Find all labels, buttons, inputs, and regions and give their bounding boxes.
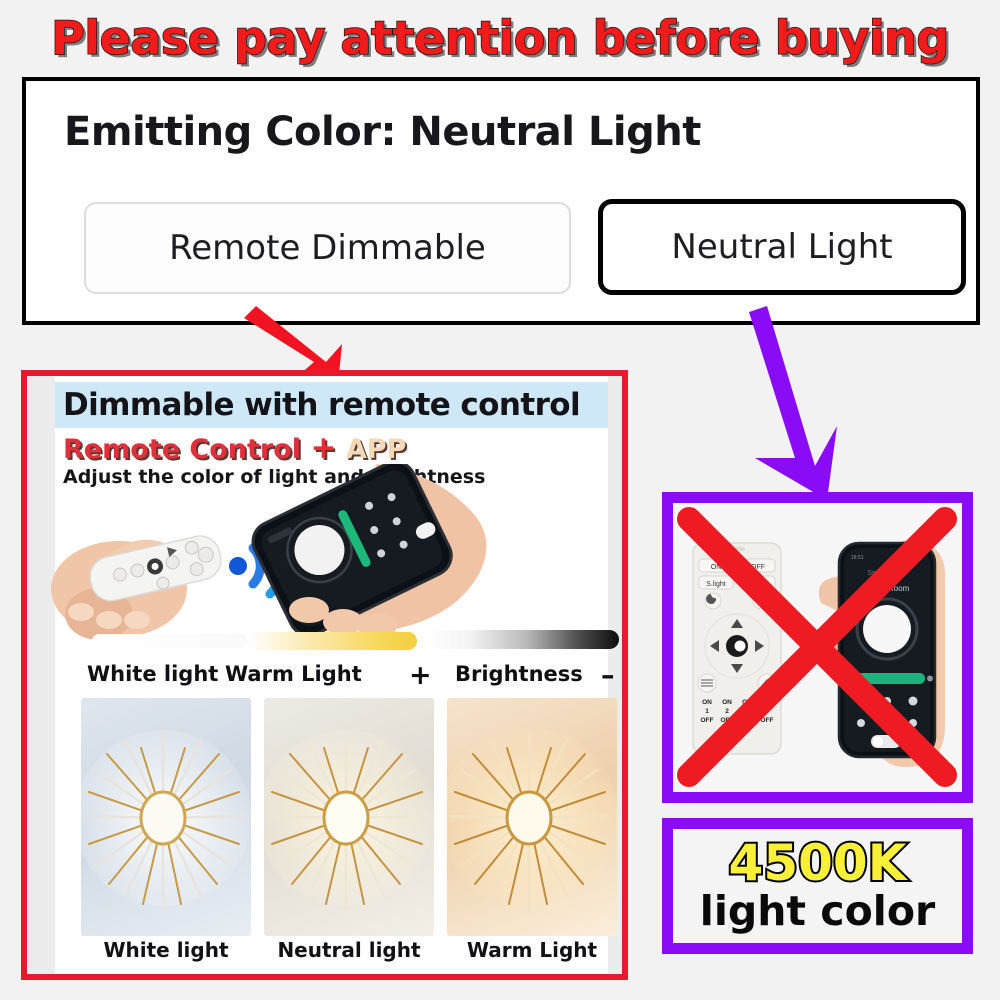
lamp-photo-neutral (264, 698, 434, 936)
lamp-photo-white (81, 698, 251, 936)
option-neutral-light[interactable]: Neutral Light (598, 199, 966, 295)
kelvin-light-color-box: 4500K light color (662, 818, 973, 954)
dimmable-header-text: Dimmable with remote control (55, 387, 580, 423)
app-word: APP (346, 434, 406, 465)
dimmable-remote-panel: Dimmable with remote control Remote Cont… (21, 370, 628, 980)
not-included-background: ON OFF S.light TIMER (673, 503, 962, 792)
lamp-caption-white: White light (81, 938, 251, 962)
panel-background: Dimmable with remote control Remote Cont… (27, 376, 622, 974)
white-light-bar (92, 634, 247, 648)
warm-light-bar (249, 632, 417, 650)
lamp-comparison-row: White light Neutral light Warm Light (55, 698, 608, 970)
option-remote-dimmable-label: Remote Dimmable (169, 228, 486, 268)
dimmable-header-banner: Dimmable with remote control (55, 382, 608, 428)
option-neutral-light-label: Neutral Light (671, 227, 892, 267)
kelvin-value: 4500K (729, 838, 907, 888)
panel-left-gutter (27, 376, 55, 974)
brightness-minus-icon: – (601, 660, 615, 691)
hand-holding-remote-photo (47, 494, 247, 644)
hand-holding-phone-photo (237, 464, 487, 649)
lamp-caption-neutral: Neutral light (264, 938, 434, 962)
brightness-plus-icon: + (409, 660, 432, 691)
kelvin-sublabel: light color (700, 890, 935, 933)
remote-control-word: Remote Control (63, 434, 301, 465)
option-remote-dimmable[interactable]: Remote Dimmable (84, 202, 571, 294)
red-cross-out-icon (673, 503, 962, 792)
brightness-label: Brightness (455, 662, 583, 686)
not-included-panel: ON OFF S.light TIMER (662, 492, 973, 803)
emitting-color-option-box: Emitting Color: Neutral Light Remote Dim… (22, 77, 980, 325)
brightness-bar (427, 630, 619, 649)
banner-text: Please pay attention before buying (51, 11, 949, 65)
emitting-color-label: Emitting Color: Neutral Light (64, 109, 701, 155)
white-light-label: White light (87, 662, 218, 686)
warm-light-label: Warm Light (225, 662, 362, 686)
purple-arrow-icon (745, 300, 865, 505)
remote-control-app-heading: Remote Control + APP (63, 430, 406, 466)
plus-symbol: + (310, 430, 336, 466)
lamp-photo-warm (447, 698, 617, 936)
lamp-caption-warm: Warm Light (447, 938, 617, 962)
page-banner: Please pay attention before buying (0, 8, 1000, 68)
